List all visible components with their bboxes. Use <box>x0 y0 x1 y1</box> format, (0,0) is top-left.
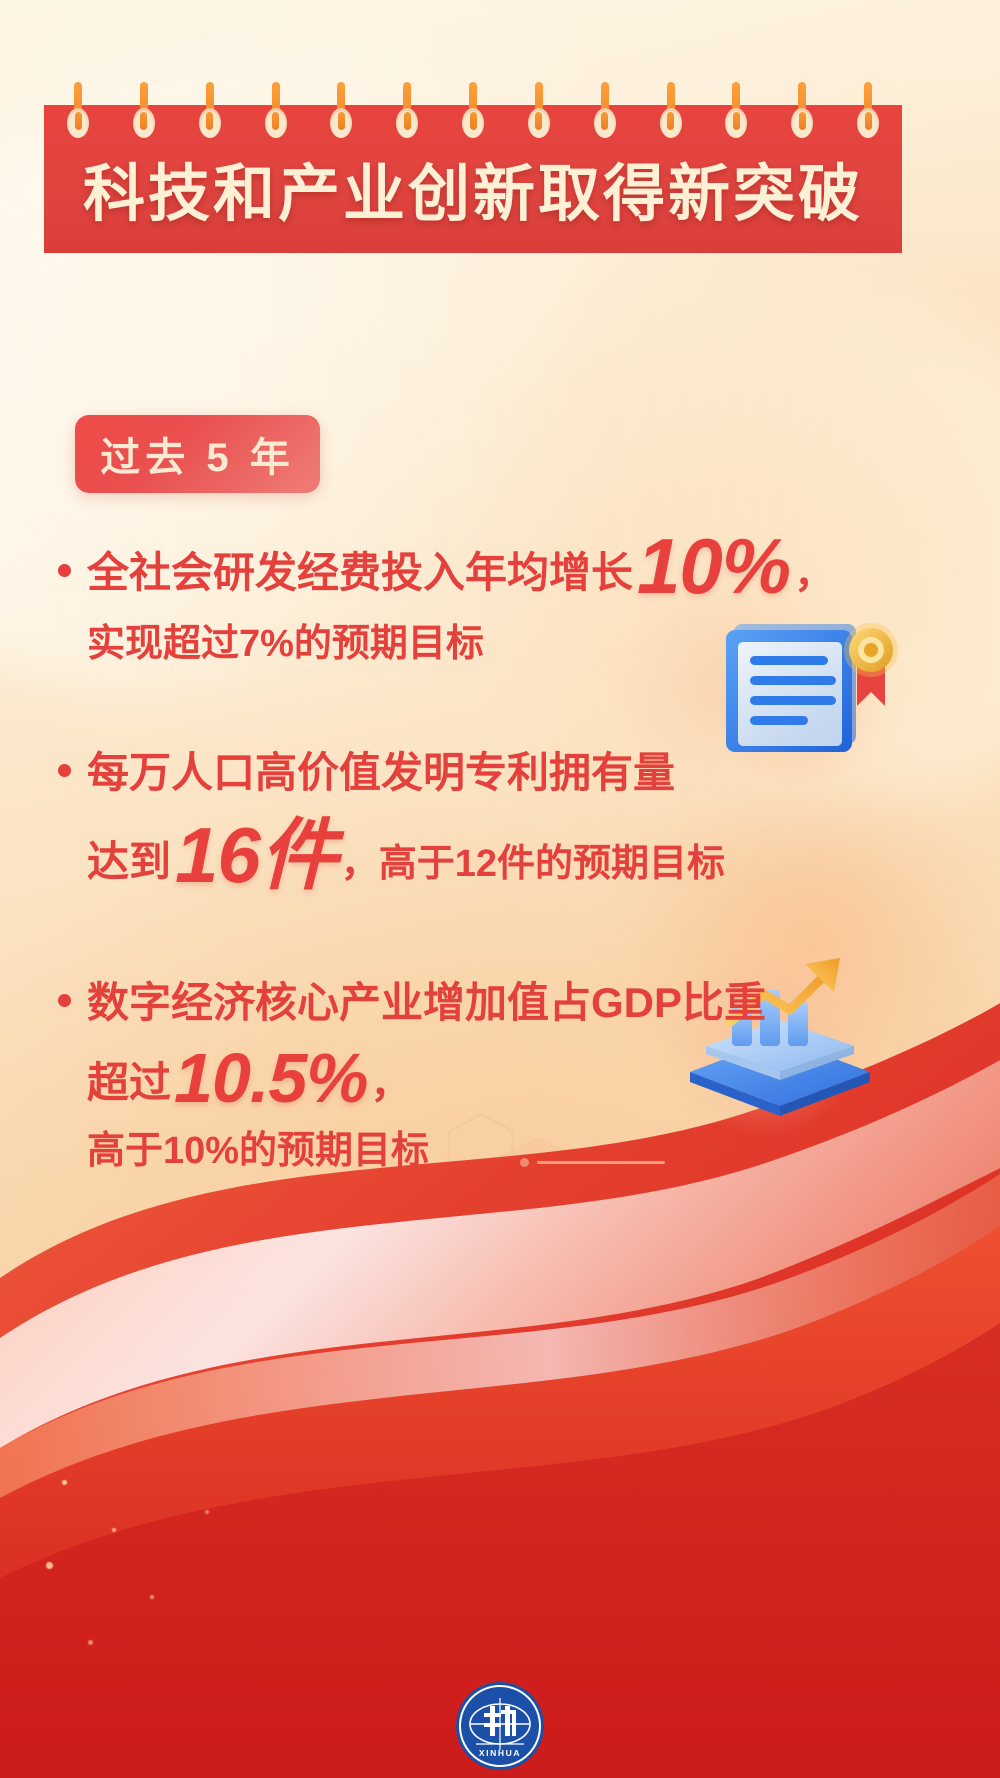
bullet-rd-spending: 全社会研发经费投入年均增长 10% ， 实现超过7%的预期目标 <box>58 525 938 671</box>
bullet-1-value: 10% <box>633 531 794 601</box>
bullet-digital-economy-gdp: 数字经济核心产业增加值占GDP比重 超过 10.5% ， 高于10%的预期目标 <box>58 975 938 1179</box>
bullet-3-line3-text: 高于10%的预期目标 <box>87 1125 429 1178</box>
bullet-3-value: 10.5% <box>171 1047 370 1110</box>
bullet-2-value: 16件 <box>171 820 341 890</box>
bullet-2-line2-prefix: 达到 <box>87 834 171 891</box>
bullet-1-comma: ， <box>794 541 834 599</box>
bullet-2-line2-suffix: ，高于12件的预期目标 <box>341 838 725 891</box>
bullet-dot <box>58 764 71 777</box>
bullet-3-line1-text: 数字经济核心产业增加值占GDP比重 <box>87 975 766 1032</box>
connector-line <box>537 1161 665 1164</box>
bullet-1-line2-text: 实现超过7%的预期目标 <box>87 618 484 671</box>
xinhua-logo-text: XINHUA <box>479 1748 521 1758</box>
bullet-dot <box>58 994 71 1007</box>
dotted-connector-decoration <box>520 1158 665 1167</box>
bullet-2-line1-text: 每万人口高价值发明专利拥有量 <box>87 745 675 802</box>
bullet-3-comma: ， <box>371 1051 411 1109</box>
bullet-high-value-patents: 每万人口高价值发明专利拥有量 达到 16件 ，高于12件的预期目标 <box>58 745 938 891</box>
bullet-content: 全社会研发经费投入年均增长 10% ， 实现超过7%的预期目标 每万人口高价值发… <box>0 0 1000 1778</box>
bullet-dot <box>58 564 71 577</box>
connector-dot <box>520 1158 529 1167</box>
bullet-3-line2-prefix: 超过 <box>87 1055 171 1112</box>
xinhua-logo: XINHUA <box>454 1680 546 1772</box>
bullet-1-line1-text: 全社会研发经费投入年均增长 <box>87 545 633 602</box>
